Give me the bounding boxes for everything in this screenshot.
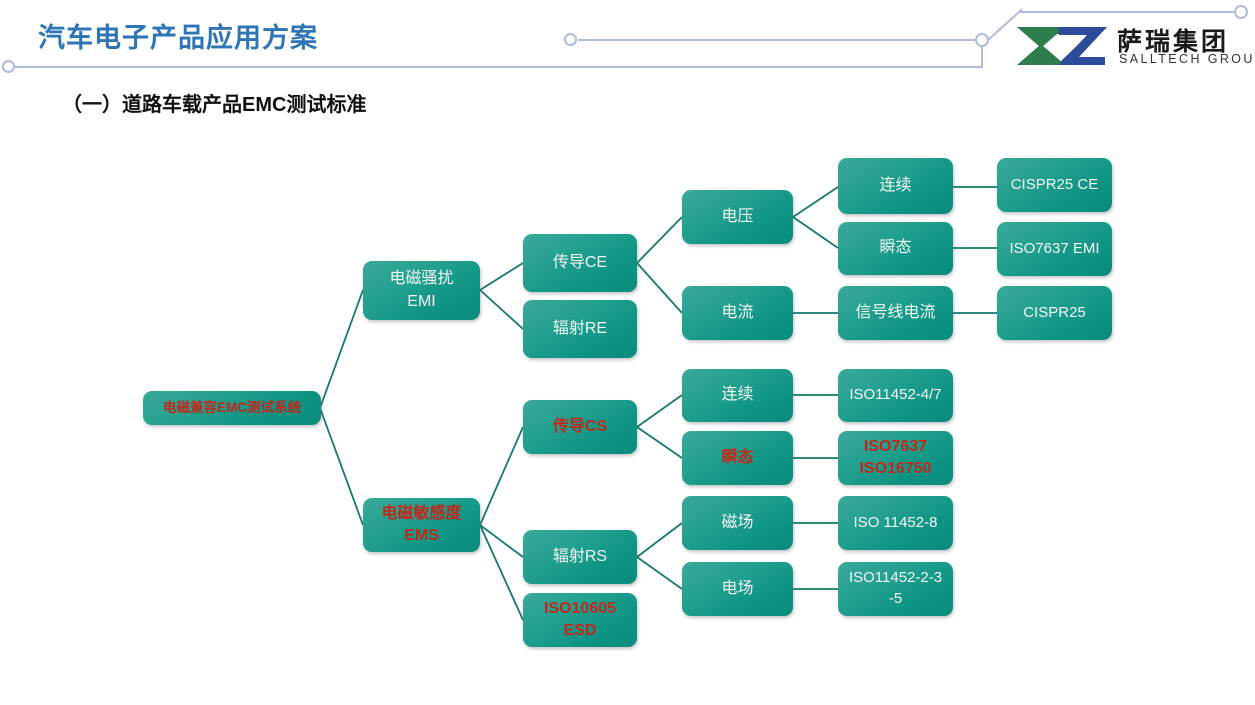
page-title: 汽车电子产品应用方案 <box>38 16 318 55</box>
section-subtitle: （一）道路车载产品EMC测试标准 <box>62 88 366 117</box>
node-iso7637-label-line2: ISO16750 <box>838 458 953 480</box>
node-transient-cs-label: 瞬态 <box>682 447 793 469</box>
node-transient-emi[interactable]: 瞬态 <box>838 222 953 275</box>
node-iso11452-4-7-label: ISO11452-4/7 <box>838 385 953 406</box>
node-current[interactable]: 电流 <box>682 286 793 340</box>
node-conducted-cs-label: 传导CS <box>523 416 637 438</box>
node-iso7637-emi[interactable]: ISO7637 EMI <box>997 222 1112 276</box>
node-radiated-rs[interactable]: 辐射RS <box>523 530 637 584</box>
node-iso11452-2-label-line2: -5 <box>838 589 953 610</box>
node-emi[interactable]: 电磁骚扰 EMI <box>363 261 480 320</box>
page-header: 汽车电子产品应用方案 （一）道路车载产品EMC测试标准 萨瑞集团 SALLTEC… <box>0 0 1255 86</box>
node-conducted-cs[interactable]: 传导CS <box>523 400 637 454</box>
node-magnetic-field-label: 磁场 <box>682 512 793 534</box>
deco-line-top <box>1020 11 1235 13</box>
deco-line-lower <box>14 66 983 68</box>
node-iso11452-4-7[interactable]: ISO11452-4/7 <box>838 369 953 422</box>
brand-logo: 萨瑞集团 SALLTECH GROUP <box>1013 22 1243 70</box>
node-iso11452-8-label: ISO 11452-8 <box>838 513 953 534</box>
node-radiated-re-label: 辐射RE <box>523 318 637 340</box>
node-continuous-emi[interactable]: 连续 <box>838 158 953 214</box>
node-transient-emi-label: 瞬态 <box>838 237 953 259</box>
node-electric-field[interactable]: 电场 <box>682 562 793 616</box>
logo-name-en: SALLTECH GROUP <box>1119 52 1255 66</box>
node-magnetic-field[interactable]: 磁场 <box>682 496 793 550</box>
node-voltage-label: 电压 <box>682 206 793 228</box>
node-ems[interactable]: 电磁敏感度 EMS <box>363 498 480 552</box>
node-voltage[interactable]: 电压 <box>682 190 793 244</box>
node-cispr25-label: CISPR25 <box>997 303 1112 324</box>
node-iso10605-label-line2: ESD <box>523 620 637 642</box>
node-electric-field-label: 电场 <box>682 578 793 600</box>
node-ems-label-line1: 电磁敏感度 <box>363 503 480 525</box>
node-signal-line-current-label: 信号线电流 <box>838 302 953 324</box>
node-continuous-cs-label: 连续 <box>682 384 793 406</box>
node-root-label: 电磁兼容EMC测试系统 <box>143 399 321 418</box>
node-continuous-emi-label: 连续 <box>838 175 953 197</box>
node-emi-label-line1: 电磁骚扰 <box>363 268 480 290</box>
node-iso11452-2-3-5[interactable]: ISO11452-2-3 -5 <box>838 562 953 616</box>
deco-line-upper <box>578 39 983 41</box>
node-root[interactable]: 电磁兼容EMC测试系统 <box>143 391 321 425</box>
node-iso7637-iso16750[interactable]: ISO7637 ISO16750 <box>838 431 953 485</box>
node-transient-cs[interactable]: 瞬态 <box>682 431 793 485</box>
node-iso11452-8[interactable]: ISO 11452-8 <box>838 496 953 550</box>
salltech-logo-icon <box>1013 25 1109 67</box>
node-cispr25-ce[interactable]: CISPR25 CE <box>997 158 1112 212</box>
node-signal-line-current[interactable]: 信号线电流 <box>838 286 953 340</box>
emc-tree-diagram: 电磁兼容EMC测试系统 电磁骚扰 EMI 电磁敏感度 EMS 传导CE 辐射RE… <box>0 130 1255 690</box>
deco-circle-mid-left <box>564 33 577 46</box>
node-conducted-ce[interactable]: 传导CE <box>523 234 637 292</box>
node-continuous-cs[interactable]: 连续 <box>682 369 793 422</box>
node-cispr25-ce-label: CISPR25 CE <box>997 175 1112 196</box>
node-radiated-re[interactable]: 辐射RE <box>523 300 637 358</box>
node-radiated-rs-label: 辐射RS <box>523 546 637 568</box>
node-iso10605-esd[interactable]: ISO10605 ESD <box>523 593 637 647</box>
node-iso10605-label-line1: ISO10605 <box>523 598 637 620</box>
node-iso11452-2-label-line1: ISO11452-2-3 <box>838 568 953 589</box>
node-ems-label-line2: EMS <box>363 525 480 547</box>
deco-circle-mid-right <box>975 33 989 47</box>
node-emi-label-line2: EMI <box>363 291 480 313</box>
deco-circle-right <box>1234 5 1248 19</box>
node-cispr25[interactable]: CISPR25 <box>997 286 1112 340</box>
node-conducted-ce-label: 传导CE <box>523 252 637 274</box>
node-iso7637-emi-label: ISO7637 EMI <box>997 239 1112 260</box>
node-current-label: 电流 <box>682 302 793 324</box>
node-iso7637-label-line1: ISO7637 <box>838 436 953 458</box>
